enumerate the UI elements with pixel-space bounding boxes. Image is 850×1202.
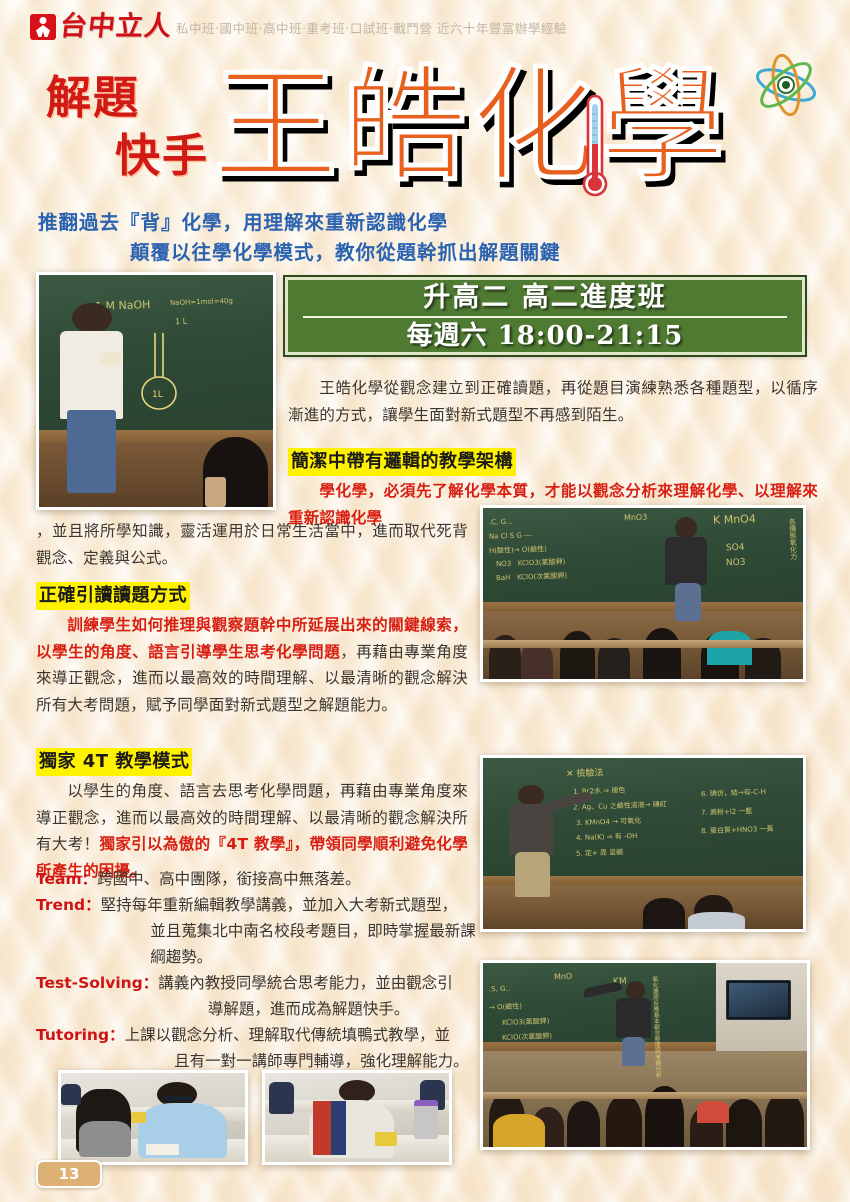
photo-students-experiment-1 (58, 1070, 248, 1165)
page-number: 13 (36, 1160, 102, 1188)
photo-teacher-whiteboard-naoh: 1 M NaOH NaOH=1mol=40g 1 L 1L (36, 272, 276, 510)
fourT-value-trend: 堅持每年重新編輯教學講義，並加入大考新式題型， (101, 896, 458, 914)
poster-title: 解題 快手 王皓化學 (38, 52, 828, 202)
fourT-key-tutoring: Tutoring： (36, 1022, 125, 1048)
title-main-text: 王皓化學 (213, 52, 828, 200)
title-main-wrap: 王皓化學 (213, 52, 828, 202)
title-kicker-line2: 快手 (38, 127, 213, 185)
brand-tagline: 私中班‧國中班‧高中班‧重考班‧口試班‧戰鬥營 近六十年豐富辦學經驗 (176, 18, 567, 40)
tv-screen (726, 980, 791, 1020)
fourT-value-trend-cont: 並且蒐集北中南名校段考題目，即時掌握最新課綱趨勢。 (101, 918, 481, 970)
fourT-value-tutoring: 上課以觀念分析、理解取代傳統填鴨式教學，並 (125, 1026, 451, 1044)
chalk-flask-drawing: 1L (133, 331, 185, 417)
photo-classroom-kmno4: .C, G... Na Cl S G --- H(酸性)→ O(鹼性) NO3 … (480, 505, 806, 682)
brand-name: 台中立人 (59, 14, 174, 40)
section-1-continued: ，並且將所學知識，靈活運用於日常生活當中，進而取代死背觀念、定義與公式。 (36, 518, 468, 571)
fourT-value-team: 跨國中、高中團隊，銜接高中無落差。 (97, 870, 361, 888)
fourT-item-tutoring: Tutoring： 上課以觀念分析、理解取代傳統填鴨式教學，並 且有一對一講師專… (36, 1022, 481, 1074)
slogan-line1: 推翻過去『背』化學，用理解來重新認識化學 (38, 211, 448, 234)
section-3-heading: 獨家 4T 教學模式 (36, 748, 192, 776)
intro-paragraph: 王皓化學從觀念建立到正確讀題，再從題目演練熟悉各種題型，以循序漸進的方式，讓學生… (288, 375, 818, 428)
intro-text: 王皓化學從觀念建立到正確讀題，再從題目演練熟悉各種題型，以循序漸進的方式，讓學生… (288, 379, 818, 424)
photo-students-experiment-2 (262, 1070, 452, 1165)
section-1-heading: 簡潔中帶有邏輯的教學架構 (288, 448, 516, 476)
fourT-key-test-solving: Test-Solving： (36, 970, 158, 996)
svg-text:1L: 1L (152, 390, 163, 400)
course-banner-schedule: 每週六 18:00-21:15 (407, 320, 684, 352)
photo-teacher-pointing-board: ✕ 檢驗法 1. Br2水 ⇒ 褪色 2. Ag、Cu 之鹼性溶液→ 磚紅 3.… (480, 755, 806, 932)
course-banner-title: 升高二 高二進度班 (423, 281, 666, 315)
fourT-item-team: Team： 跨國中、高中團隊，銜接高中無落差。 (36, 866, 481, 892)
title-kicker-line1: 解題 (38, 69, 213, 127)
course-banner: 升高二 高二進度班 每週六 18:00-21:15 (285, 277, 805, 355)
fourT-key-team: Team： (36, 866, 97, 892)
section-2: 正確引讀讀題方式 訓練學生如何推理與觀察題幹中所延展出來的關鍵線索，以學生的角度… (36, 582, 468, 718)
fourT-value-tutoring-cont: 且有一對一講師專門輔導，強化理解能力。 (125, 1048, 481, 1074)
section-3: 獨家 4T 教學模式 以學生的角度、語言去思考化學問題，再藉由專業角度來導正觀念… (36, 748, 468, 884)
eyeglasses-icon (164, 1096, 193, 1101)
fourT-key-trend: Trend： (36, 892, 101, 918)
fourT-item-trend: Trend： 堅持每年重新編輯教學講義，並加入大考新式題型， 並且蒐集北中南名校… (36, 892, 481, 970)
fourT-value-test-solving-cont: 導解題，進而成為解題快手。 (158, 996, 481, 1022)
fourT-item-test-solving: Test-Solving： 講義內教授同學統合思考能力，並由觀念引 導解題，進而… (36, 970, 481, 1022)
poster-page: 台中立人 私中班‧國中班‧高中班‧重考班‧口試班‧戰鬥營 近六十年豐富辦學經驗 … (0, 0, 850, 1202)
thermometer-icon (582, 94, 608, 199)
person-in-box-icon (30, 14, 56, 40)
section-2-heading: 正確引讀讀題方式 (36, 582, 190, 610)
slogan: 推翻過去『背』化學，用理解來重新認識化學 顛覆以往學化學模式，教你從題幹抓出解題… (38, 208, 828, 268)
banner-divider (303, 316, 786, 318)
title-kicker: 解題 快手 (38, 69, 213, 185)
fourT-value-test-solving: 講義內教授同學統合思考能力，並由觀念引 (158, 974, 453, 992)
atom-icon (752, 52, 820, 118)
photo-lecture-wide-tv: .S, G.. → O(鹼性) KClO3(氯酸鉀) KClO(次氯酸鉀) Mn… (480, 960, 810, 1150)
slogan-line2: 顛覆以往學化學模式，教你從題幹抓出解題關鍵 (38, 238, 828, 268)
fourT-list: Team： 跨國中、高中團隊，銜接高中無落差。 Trend： 堅持每年重新編輯教… (36, 866, 481, 1074)
section-1-body-rest: ，並且將所學知識，靈活運用於日常生活當中，進而取代死背觀念、定義與公式。 (36, 522, 468, 567)
brand-header: 台中立人 私中班‧國中班‧高中班‧重考班‧口試班‧戰鬥營 近六十年豐富辦學經驗 (30, 14, 567, 40)
